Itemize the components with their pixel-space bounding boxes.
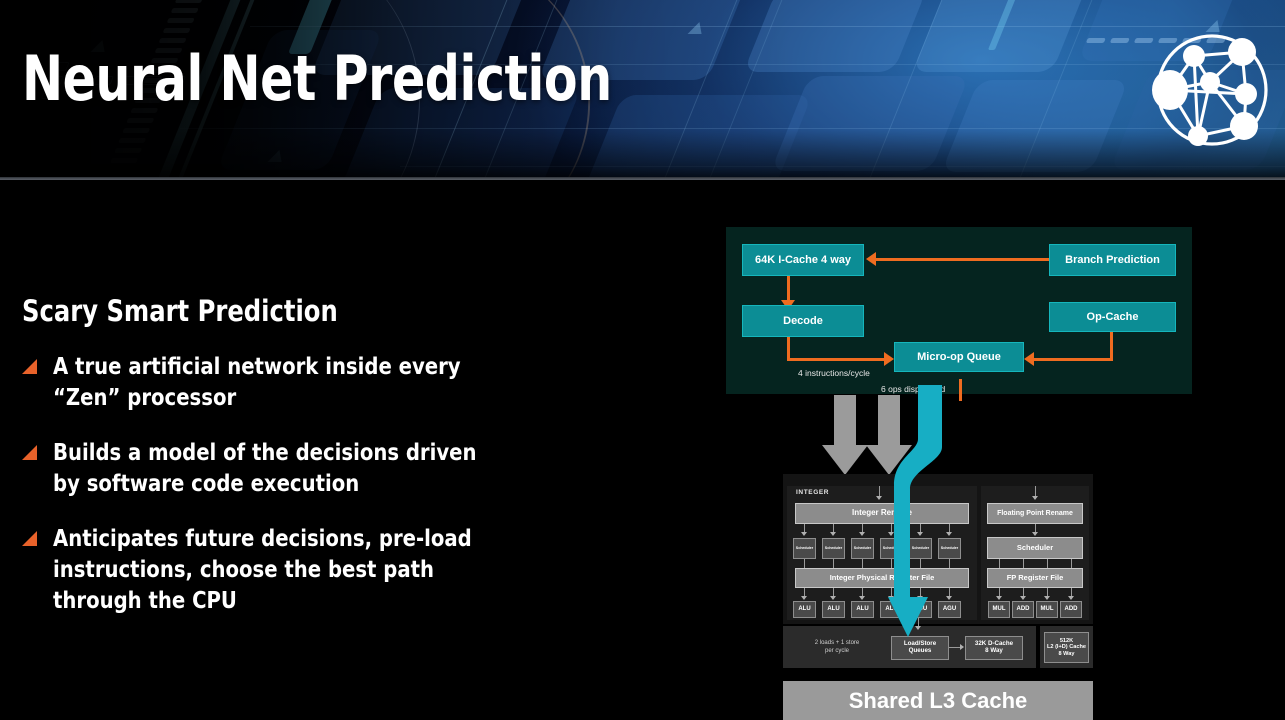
diagram-box-micro-op-queue: Micro-op Queue: [894, 342, 1024, 372]
list-item-label: A true artificial network inside every “…: [53, 352, 500, 414]
connector-branch-to-icache: [876, 258, 1049, 261]
header-banner: Neural Net Prediction: [0, 0, 1285, 180]
connector-opcache-down: [1110, 331, 1113, 361]
fp-prf-label: FP Register File: [1007, 574, 1064, 582]
list-item-label: Builds a model of the decisions driven b…: [53, 438, 500, 500]
neural-network-globe-icon: [1146, 24, 1278, 156]
arrowhead-right-icon: [884, 352, 894, 366]
content-column: Scary Smart Prediction A true artificial…: [22, 296, 562, 641]
integer-section-label: INTEGER: [796, 489, 829, 496]
teal-dataflow-arrow-icon: [880, 385, 950, 667]
diagram-box-mul: MUL: [988, 601, 1010, 618]
shared-l3-cache-bar: Shared L3 Cache: [783, 681, 1093, 720]
diagram-box-mul: MUL: [1036, 601, 1058, 618]
diagram-box-op-cache: Op-Cache: [1049, 302, 1176, 332]
shared-l3-cache-label: Shared L3 Cache: [849, 688, 1028, 714]
diagram-box-decode: Decode: [742, 305, 864, 337]
connector-icache-to-decode: [787, 276, 790, 302]
l2-cache-panel: 512K L2 (I+D) Cache 8 Way: [1040, 626, 1093, 668]
list-item: A true artificial network inside every “…: [22, 352, 562, 414]
diagram-box-branch-prediction: Branch Prediction: [1049, 244, 1176, 276]
floating-point-cluster: Floating Point Rename Scheduler FP Regis…: [981, 486, 1089, 620]
diagram-box-add: ADD: [1060, 601, 1082, 618]
diagram-box-fp-scheduler: Scheduler: [987, 537, 1083, 559]
diagram-box-op-cache-label: Op-Cache: [1087, 311, 1139, 323]
connector-decode-to-uopq: [787, 358, 886, 361]
diagram-box-int-scheduler: Scheduler: [793, 538, 816, 559]
fp-rename-label: Floating Point Rename: [997, 510, 1073, 517]
list-item: Builds a model of the decisions driven b…: [22, 438, 562, 500]
diagram-box-l2-cache: 512K L2 (I+D) Cache 8 Way: [1044, 632, 1089, 663]
diagram-box-int-scheduler: Scheduler: [851, 538, 874, 559]
memory-note: 2 loads + 1 store per cycle: [795, 639, 879, 655]
arrowhead-left-icon: [1024, 352, 1034, 366]
diagram-box-alu: ALU: [851, 601, 874, 618]
triangle-bullet-icon: [22, 359, 37, 374]
diagram-box-micro-op-queue-label: Micro-op Queue: [917, 351, 1001, 363]
diagram-box-fp-prf: FP Register File: [987, 568, 1083, 588]
diagram-box-fp-rename: Floating Point Rename: [987, 503, 1083, 524]
connector-uopq-dispatch: [959, 379, 962, 401]
diagram-box-int-scheduler: Scheduler: [822, 538, 845, 559]
diagram-box-add: ADD: [1012, 601, 1034, 618]
list-item: Anticipates future decisions, pre-load i…: [22, 524, 562, 617]
list-item-label: Anticipates future decisions, pre-load i…: [53, 524, 500, 617]
diagram-box-icache-label: 64K I-Cache 4 way: [755, 254, 851, 266]
slide-root: Neural Net Prediction Scary Smart Predic…: [0, 0, 1285, 720]
frontend-diagram-panel: 64K I-Cache 4 way Branch Prediction Deco…: [726, 227, 1192, 394]
diagram-box-alu: ALU: [793, 601, 816, 618]
diagram-box-alu: ALU: [822, 601, 845, 618]
diagram-box-icache: 64K I-Cache 4 way: [742, 244, 864, 276]
page-title: Neural Net Prediction: [22, 48, 612, 110]
triangle-bullet-icon: [22, 445, 37, 460]
diagram-label-instructions-per-cycle: 4 instructions/cycle: [798, 368, 870, 378]
fp-scheduler-label: Scheduler: [1017, 544, 1053, 552]
arrowhead-left-icon: [866, 252, 876, 266]
diagram-box-d-cache: 32K D-Cache 8 Way: [965, 636, 1023, 660]
connector-opcache-to-uopq: [1034, 358, 1113, 361]
section-subheading: Scary Smart Prediction: [22, 296, 524, 326]
header-divider-strip: [0, 177, 1285, 180]
diagram-box-branch-prediction-label: Branch Prediction: [1065, 254, 1160, 266]
dispatch-arrow-left-icon: [822, 395, 868, 475]
triangle-bullet-icon: [22, 531, 37, 546]
diagram-box-decode-label: Decode: [783, 315, 823, 327]
